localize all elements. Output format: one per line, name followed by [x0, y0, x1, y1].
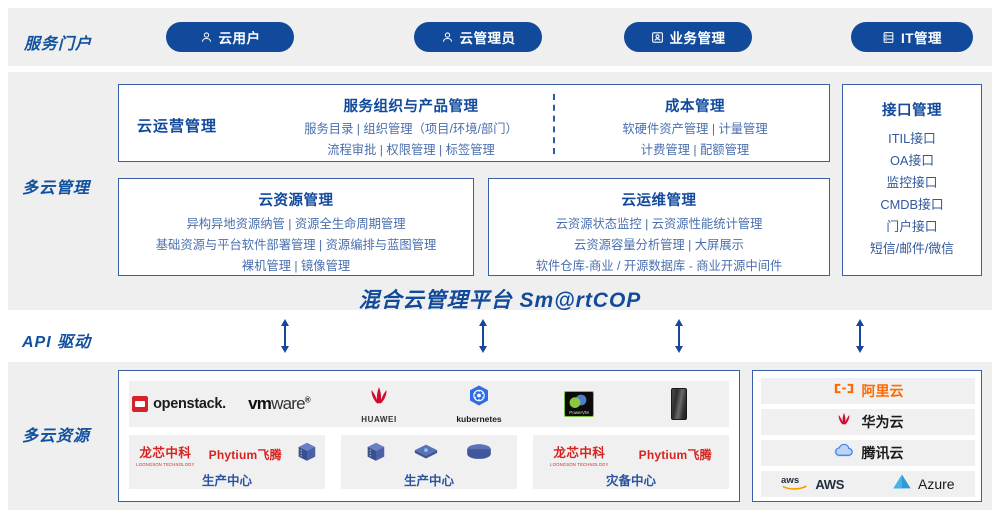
server-rack-icon	[882, 31, 895, 44]
public-cloud-aws: aws AWS	[781, 473, 844, 496]
interface-item-portal: 门户接口	[843, 216, 981, 238]
cost-management-group: 成本管理 软硬件资产管理 | 计量管理 计费管理 | 配额管理	[571, 95, 819, 161]
brand-sublabel: LOONGSON TECHNOLOGY	[136, 462, 194, 467]
portal-button-business-mgmt[interactable]: 业务管理	[624, 22, 752, 52]
cloud-label: 阿里云	[862, 381, 904, 401]
portal-button-label: 云管理员	[460, 27, 516, 47]
portal-button-it-mgmt[interactable]: IT管理	[851, 22, 973, 52]
cloud-label: AWS	[815, 477, 844, 492]
box-title: 云运维管理	[489, 189, 829, 210]
svg-text:aws: aws	[781, 474, 799, 485]
openstack-icon	[132, 396, 148, 412]
brand-label: 龙芯中科	[553, 442, 605, 461]
portal-button-cloud-user[interactable]: 云用户	[166, 22, 294, 52]
aws-icon: aws	[781, 473, 809, 496]
platform-title: 混合云管理平台 Sm@rtCOP	[0, 284, 1000, 314]
interface-management-box: 接口管理 ITIL接口 OA接口 监控接口 CMDB接口 门户接口 短信/邮件/…	[842, 84, 982, 276]
public-cloud-huaweicloud: 华为云	[761, 409, 975, 435]
api-drive-label: API 驱动	[22, 328, 91, 352]
public-cloud-aliyun: 阿里云	[761, 378, 975, 404]
server-icon	[365, 441, 387, 468]
vendor-logo-kubernetes: kubernetes	[429, 381, 529, 427]
datacenter-block-production-1: 龙芯中科 LOONGSON TECHNOLOGY Phytium飞腾 生产中心	[129, 435, 325, 489]
public-cloud-aws-azure-row: aws AWS Azure	[761, 471, 975, 497]
public-cloud-azure: Azure	[892, 473, 955, 495]
switch-icon	[413, 441, 439, 468]
datacenter-label: 生产中心	[129, 470, 325, 489]
vendor-logo-server-rack	[629, 381, 729, 427]
vendor-logo-vmware: vmware®	[229, 381, 329, 427]
datacenter-block-production-2: 生产中心	[341, 435, 517, 489]
vendor-logo-openstack: openstack.	[129, 381, 229, 427]
cloud-label: Azure	[918, 476, 955, 492]
box-line: 基础资源与平台软件部署管理 | 资源编排与蓝图管理	[119, 235, 473, 256]
brand-label: 龙芯中科	[139, 442, 191, 461]
group-line: 服务目录 | 组织管理（项目/环境/部门）	[267, 119, 555, 140]
private-cloud-box: openstack. vmware® HUA	[118, 370, 740, 502]
cloud-label: 腾讯云	[862, 443, 904, 463]
vendor-label: kubernetes	[456, 414, 501, 424]
bidirectional-arrow	[672, 318, 686, 359]
portal-button-label: 云用户	[219, 27, 261, 47]
box-line: 软件仓库-商业 / 开源数据库 - 商业开源中间件	[489, 256, 829, 277]
storage-icon	[465, 442, 493, 467]
cloud-label: 华为云	[862, 412, 904, 432]
portal-button-label: IT管理	[901, 27, 942, 47]
box-line: 裸机管理 | 镜像管理	[119, 256, 473, 277]
loongson-logo: 龙芯中科 LOONGSON TECHNOLOGY	[136, 442, 194, 467]
box-line: 异构异地资源纳管 | 资源全生命周期管理	[119, 214, 473, 235]
public-cloud-tencentcloud: 腾讯云	[761, 440, 975, 466]
group-line: 计费管理 | 配额管理	[571, 140, 819, 161]
multicloud-resources-label: 多云资源	[22, 422, 90, 446]
vendor-label: openstack.	[153, 396, 226, 412]
user-icon	[441, 31, 454, 44]
user-icon	[200, 31, 213, 44]
group-line: 流程审批 | 权限管理 | 标签管理	[267, 140, 555, 161]
interface-item-notify: 短信/邮件/微信	[843, 238, 981, 260]
datacenter-label: 生产中心	[341, 470, 517, 489]
loongson-logo: 龙芯中科 LOONGSON TECHNOLOGY	[550, 442, 608, 467]
interface-item-oa: OA接口	[843, 150, 981, 172]
box-line: 云资源状态监控 | 云资源性能统计管理	[489, 214, 829, 235]
cloud-resource-management-box: 云资源管理 异构异地资源纳管 | 资源全生命周期管理 基础资源与平台软件部署管理…	[118, 178, 474, 276]
bidirectional-arrow	[476, 318, 490, 359]
group-title: 服务组织与产品管理	[267, 95, 555, 116]
group-line: 软硬件资产管理 | 计量管理	[571, 119, 819, 140]
kubernetes-helm-icon	[467, 384, 491, 413]
vendor-logo-huawei: HUAWEI	[329, 381, 429, 427]
box-title: 接口管理	[843, 99, 981, 120]
vendor-label: PowerVM	[565, 410, 593, 415]
vendor-label: HUAWEI	[361, 415, 397, 424]
server-icon	[296, 441, 318, 468]
phytium-logo: Phytium飞腾	[639, 446, 712, 463]
bidirectional-arrow	[278, 318, 292, 359]
vendor-logo-powervm: PowerVM	[529, 381, 629, 427]
huawei-flower-icon	[365, 385, 393, 414]
tencent-cloud-icon	[833, 443, 855, 464]
azure-icon	[892, 473, 912, 495]
alibaba-cloud-icon	[833, 381, 855, 401]
public-cloud-box: 阿里云 华为云 腾讯云	[752, 370, 982, 502]
box-line: 云资源容量分析管理 | 大屏展示	[489, 235, 829, 256]
vendor-logo-strip: openstack. vmware® HUA	[129, 381, 729, 427]
vendor-label: vmware®	[248, 394, 310, 414]
brand-sublabel: LOONGSON TECHNOLOGY	[550, 462, 608, 467]
bidirectional-arrow	[853, 318, 867, 359]
interface-item-cmdb: CMDB接口	[843, 194, 981, 216]
phytium-logo: Phytium飞腾	[209, 446, 282, 463]
group-title: 成本管理	[571, 95, 819, 116]
service-portal-label: 服务门户	[24, 30, 92, 54]
datacenter-block-disaster-recovery: 龙芯中科 LOONGSON TECHNOLOGY Phytium飞腾 灾备中心	[533, 435, 729, 489]
cloud-operations-side-title: 云运营管理	[137, 115, 217, 136]
server-rack-photo	[671, 388, 687, 420]
monitor-icon	[651, 31, 664, 44]
interface-item-monitor: 监控接口	[843, 172, 981, 194]
cloud-maintenance-management-box: 云运维管理 云资源状态监控 | 云资源性能统计管理 云资源容量分析管理 | 大屏…	[488, 178, 830, 276]
service-product-group: 服务组织与产品管理 服务目录 | 组织管理（项目/环境/部门） 流程审批 | 权…	[267, 95, 555, 161]
portal-button-cloud-admin[interactable]: 云管理员	[414, 22, 542, 52]
cloud-operations-box: 云运营管理 服务组织与产品管理 服务目录 | 组织管理（项目/环境/部门） 流程…	[118, 84, 830, 162]
portal-button-label: 业务管理	[670, 27, 726, 47]
multicloud-management-label: 多云管理	[22, 174, 90, 198]
interface-item-itil: ITIL接口	[843, 128, 981, 150]
api-drive-panel	[8, 316, 992, 358]
huawei-cloud-icon	[833, 411, 855, 434]
box-title: 云资源管理	[119, 189, 473, 210]
datacenter-label: 灾备中心	[533, 470, 729, 489]
architecture-diagram: 服务门户 云用户 云管理员 业务管理	[0, 0, 1000, 518]
